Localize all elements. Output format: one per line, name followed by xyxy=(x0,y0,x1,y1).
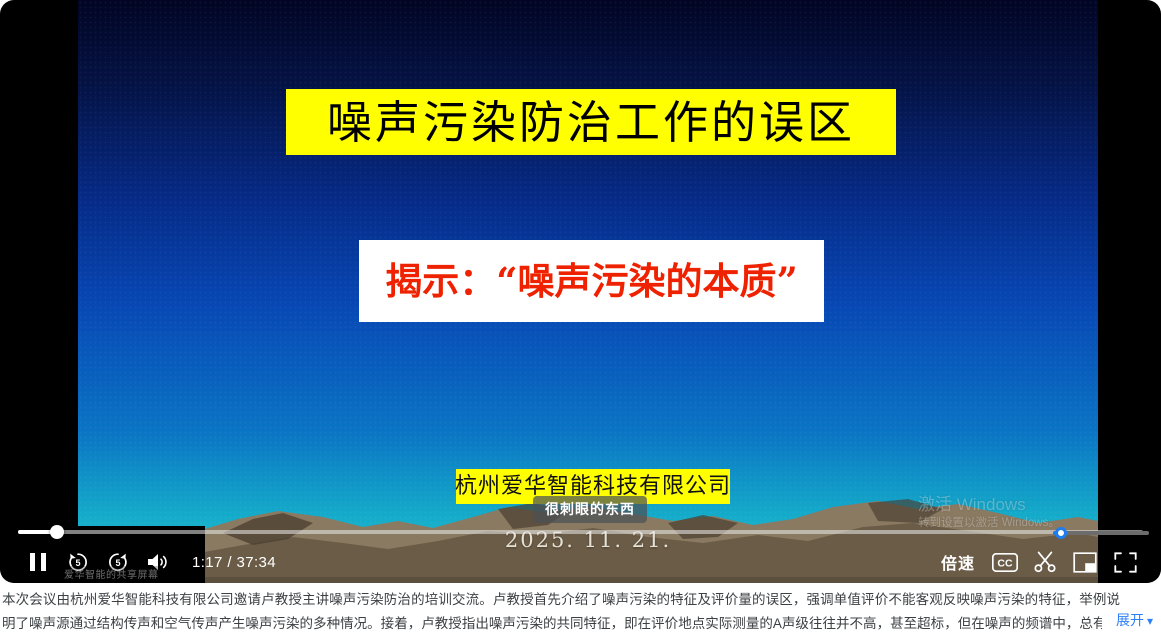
time-display: 1:17 / 37:34 xyxy=(192,554,276,571)
expand-label: 展开 xyxy=(1116,610,1144,630)
playback-speed-button[interactable]: 倍速 xyxy=(931,542,985,582)
volume-button[interactable] xyxy=(138,542,178,582)
scissors-icon xyxy=(1033,550,1057,574)
picture-in-picture-icon xyxy=(1073,552,1097,573)
player-controls-row: 5 5 1:17 / 37:34 xyxy=(0,541,1161,583)
slide-subtitle-text: 揭示：“噪声污染的本质” xyxy=(385,263,798,300)
progress-bar[interactable] xyxy=(18,525,1143,539)
progress-track[interactable] xyxy=(18,530,1143,534)
svg-text:5: 5 xyxy=(115,558,120,568)
svg-text:CC: CC xyxy=(997,557,1013,569)
rewind-5-icon: 5 xyxy=(66,550,90,574)
slide-subtitle-box: 揭示：“噪声污染的本质” xyxy=(359,240,824,322)
rewind-5-button[interactable]: 5 xyxy=(58,542,98,582)
description-text: 本次会议由杭州爱华智能科技有限公司邀请卢教授主讲噪声污染防治的培训交流。卢教授首… xyxy=(2,588,1120,636)
volume-slider-track[interactable] xyxy=(1053,531,1149,535)
progress-handle[interactable] xyxy=(50,525,64,539)
pause-icon xyxy=(29,552,47,572)
volume-slider[interactable] xyxy=(1053,527,1149,539)
volume-icon xyxy=(146,551,170,573)
slide-title-box: 噪声污染防治工作的误区 xyxy=(286,89,896,155)
chevron-down-icon: ▾ xyxy=(1147,614,1153,628)
video-player[interactable]: 噪声污染防治工作的误区 揭示：“噪声污染的本质” 杭州爱华智能科技有限公司 很刺… xyxy=(0,0,1161,583)
expand-description-button[interactable]: 展开 ▾ xyxy=(1102,610,1153,630)
clip-button[interactable] xyxy=(1025,542,1065,582)
fullscreen-icon xyxy=(1114,552,1137,573)
fullscreen-button[interactable] xyxy=(1105,542,1145,582)
volume-slider-handle[interactable] xyxy=(1055,527,1067,539)
picture-in-picture-button[interactable] xyxy=(1065,542,1105,582)
player-controls-right-group: 倍速 CC xyxy=(931,542,1161,582)
forward-5-button[interactable]: 5 xyxy=(98,542,138,582)
pause-button[interactable] xyxy=(18,542,58,582)
video-frame[interactable]: 噪声污染防治工作的误区 揭示：“噪声污染的本质” 杭州爱华智能科技有限公司 很刺… xyxy=(78,0,1098,583)
slide-title-text: 噪声污染防治工作的误区 xyxy=(327,100,855,145)
cc-icon: CC xyxy=(992,553,1018,572)
player-controls-left-group: 5 5 1:17 / 37:34 xyxy=(0,542,276,582)
video-description: 本次会议由杭州爱华智能科技有限公司邀请卢教授主讲噪声污染防治的培训交流。卢教授首… xyxy=(0,584,1161,637)
hover-tooltip: 很刺眼的东西 xyxy=(533,496,647,523)
forward-5-icon: 5 xyxy=(106,550,130,574)
svg-text:5: 5 xyxy=(75,558,80,568)
slide-company-text: 杭州爱华智能科技有限公司 xyxy=(455,476,731,498)
captions-button[interactable]: CC xyxy=(985,542,1025,582)
